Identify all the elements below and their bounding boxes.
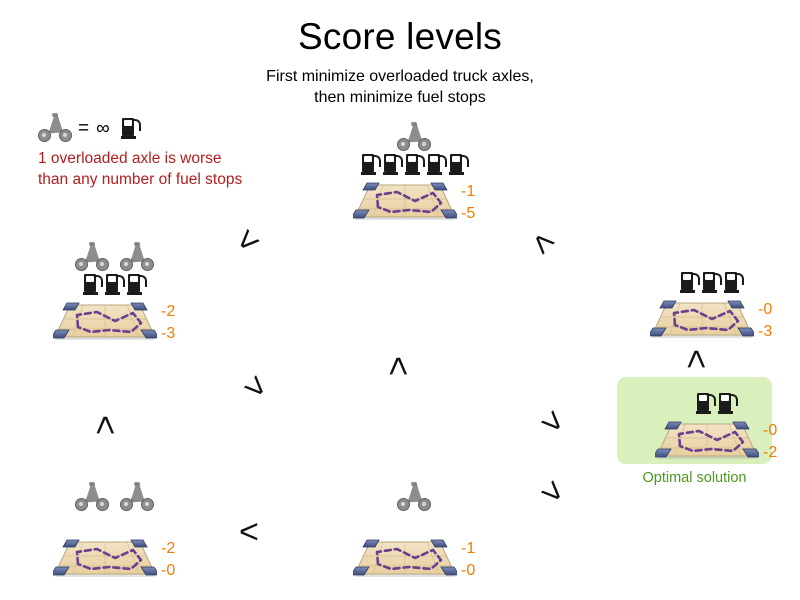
optimal-solution-label: Optimal solution <box>617 470 772 486</box>
node-0-axles-3-pumps[interactable]: -0 -3 <box>650 272 772 343</box>
score-group: -0 -3 <box>758 301 772 341</box>
fuel-pump-icon <box>84 274 101 295</box>
comparison-less-than-optimal-up: < <box>679 349 713 369</box>
axle-icon-group <box>397 124 431 150</box>
fuel-pump-icon <box>406 154 423 175</box>
route-map-graphic <box>353 538 457 582</box>
page-subtitle: First minimize overloaded truck axles, t… <box>0 66 800 108</box>
comparison-less-than-top-left: < <box>229 222 267 260</box>
comparison-less-than-mid-left: < <box>237 368 275 406</box>
fuel-pump-icon <box>681 272 698 293</box>
overloaded-axle-icon <box>120 484 154 510</box>
hard-score: -2 <box>161 303 175 321</box>
comparison-less-than-right-lower: < <box>534 473 572 511</box>
fuel-pump-icon <box>697 393 714 414</box>
route-map-graphic <box>650 299 754 343</box>
route-map-graphic <box>53 301 157 345</box>
subtitle-line-1: First minimize overloaded truck axles, <box>266 68 534 85</box>
score-levels-diagram: Score levels First minimize overloaded t… <box>0 0 800 600</box>
pump-icon-group <box>681 272 742 293</box>
axle-icon-group <box>397 484 431 510</box>
node-1-axle-5-pumps[interactable]: -1 -5 <box>353 124 475 225</box>
node-2-axles-3-pumps[interactable]: -2 -3 <box>53 244 175 345</box>
legend-note-line-2: than any number of fuel stops <box>38 171 242 188</box>
soft-score: -0 <box>461 562 475 580</box>
route-map-graphic <box>655 420 759 464</box>
overloaded-axle-icon <box>120 244 154 270</box>
fuel-pump-icon <box>719 393 736 414</box>
route-map-graphic <box>353 181 457 225</box>
legend-note-line-1: 1 overloaded axle is worse <box>38 150 222 167</box>
fuel-pump-icon <box>362 154 379 175</box>
soft-score: -0 <box>161 562 175 580</box>
comparison-less-than-top-right: < <box>524 224 562 262</box>
hard-score: -0 <box>758 301 772 319</box>
overloaded-axle-icon <box>397 124 431 150</box>
fuel-pump-icon <box>128 274 145 295</box>
equals-sign: = <box>78 119 89 138</box>
comparison-less-than-right-upper: < <box>534 403 572 441</box>
fuel-pump-icon <box>703 272 720 293</box>
score-group: -0 -2 <box>763 422 777 462</box>
overloaded-axle-icon <box>38 115 72 141</box>
legend-equation: = ∞ <box>38 112 139 144</box>
node-0-axles-2-pumps-optimal[interactable]: -0 -2 <box>655 393 777 464</box>
page-title: Score levels <box>0 16 800 58</box>
overloaded-axle-icon <box>75 244 109 270</box>
score-group: -1 -0 <box>461 540 475 580</box>
comparison-less-than-center-up: < <box>381 356 415 376</box>
axle-icon-group <box>75 244 154 270</box>
soft-score: -3 <box>758 323 772 341</box>
hard-score: -1 <box>461 540 475 558</box>
legend: = ∞ <box>38 112 139 144</box>
node-2-axles-0-pumps[interactable]: -2 -0 <box>53 484 175 582</box>
node-1-axle-0-pumps[interactable]: -1 -0 <box>353 484 475 582</box>
fuel-pump-icon <box>384 154 401 175</box>
comparison-less-than-left-up: < <box>88 415 122 435</box>
overloaded-axle-icon <box>397 484 431 510</box>
route-map-graphic <box>53 538 157 582</box>
fuel-pump-icon <box>725 272 742 293</box>
legend-note: 1 overloaded axle is worse than any numb… <box>38 148 318 190</box>
pump-icon-group <box>84 274 145 295</box>
comparison-less-than-bottom: < <box>239 515 259 549</box>
hard-score: -0 <box>763 422 777 440</box>
fuel-pump-icon <box>122 118 139 139</box>
overloaded-axle-icon <box>75 484 109 510</box>
score-group: -2 -0 <box>161 540 175 580</box>
soft-score: -5 <box>461 205 475 223</box>
fuel-pump-icon <box>106 274 123 295</box>
score-group: -1 -5 <box>461 183 475 223</box>
soft-score: -3 <box>161 325 175 343</box>
fuel-pump-icon <box>428 154 445 175</box>
pump-icon-group <box>697 393 736 414</box>
hard-score: -2 <box>161 540 175 558</box>
axle-icon-group <box>75 484 154 510</box>
infinity-symbol: ∞ <box>96 119 110 138</box>
score-group: -2 -3 <box>161 303 175 343</box>
subtitle-line-2: then minimize fuel stops <box>314 89 486 106</box>
pump-icon-group <box>362 154 467 175</box>
fuel-pump-icon <box>450 154 467 175</box>
soft-score: -2 <box>763 444 777 462</box>
hard-score: -1 <box>461 183 475 201</box>
